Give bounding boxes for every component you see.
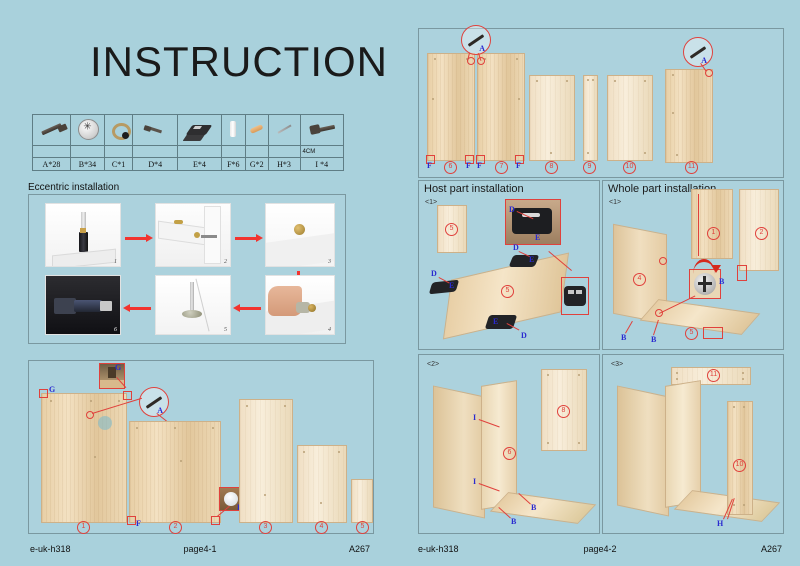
step-3-tag: <3>: [611, 361, 623, 368]
whole-b-left-leader: [625, 321, 633, 334]
right-top-boards-panel: 6 F F 7 F F A 8 9: [418, 28, 784, 178]
part-label-a: A*28: [33, 158, 71, 171]
whole-board-1: [691, 189, 733, 259]
part-cell-b: [70, 115, 104, 146]
eccentric-photo-num-6: 6: [114, 327, 117, 333]
board-7-f-left: F: [477, 161, 482, 170]
part-label-f: F*6: [221, 158, 245, 171]
step2-assembly-number: 6: [503, 447, 516, 460]
part-note-h: [268, 146, 300, 158]
page-right: 6 F F 7 F F A 8 9: [400, 0, 800, 566]
parts-table: 4CM A*28 B*34 C*1 D*4 E*4 F*6 G*2 H*3 I …: [32, 114, 344, 171]
part-cell-c: [104, 115, 132, 146]
footer-right-model: A267: [761, 544, 782, 554]
step3-top-rail-number: 11: [707, 369, 720, 382]
magnifier-a-top: A: [461, 25, 491, 55]
corner-bracket-bottom-e: E: [493, 317, 498, 326]
long-screw-icon: [301, 115, 343, 143]
whole-board-2-highlight: [737, 265, 747, 281]
board-1-callout-letter: G: [49, 385, 55, 394]
eccentric-arrow-1: [125, 237, 147, 240]
eccentric-photo-num-5: 5: [224, 327, 227, 333]
part-label-e: E*4: [178, 158, 221, 171]
step2-i-upper: I: [473, 413, 476, 422]
step3-left-wing: [617, 385, 669, 516]
board-4: [297, 445, 347, 523]
eccentric-photo-num-2: 2: [224, 259, 227, 265]
inset-g-letter: G: [115, 363, 121, 372]
step2-b-left: B: [511, 517, 516, 526]
part-cell-h: [268, 115, 300, 146]
board-number-9: 9: [583, 161, 596, 174]
corner-bracket-bottom-d: D: [521, 331, 527, 340]
board-9: [583, 75, 598, 161]
part-label-c: C*1: [104, 158, 132, 171]
board-1: [41, 393, 127, 523]
screw-closeup-b: B: [719, 277, 724, 286]
magnifier-a-top-right: A: [683, 37, 713, 67]
step3-post-number: 10: [733, 459, 746, 472]
board-number-2: 2: [169, 521, 182, 534]
screw-icon: [133, 115, 177, 143]
whole-base-highlight: [703, 327, 723, 339]
step2-base-shelf: [490, 492, 596, 524]
board-3: [239, 399, 293, 523]
whole-board-2-number: 2: [755, 227, 768, 240]
part-label-g: G*2: [246, 158, 269, 171]
part-note-d: [133, 146, 178, 158]
footer-right: e-uk-h318 page4-2 A267: [418, 544, 782, 558]
board-number-3: 3: [259, 521, 272, 534]
whole-part-step: <1>: [609, 199, 621, 206]
part-cell-d: [133, 115, 178, 146]
board-6-f-left: F: [427, 161, 432, 170]
eccentric-photo-6: 6: [45, 275, 121, 335]
board-number-1: 1: [77, 521, 90, 534]
whole-upright-number: 4: [633, 273, 646, 286]
step2-left-wing: [433, 385, 485, 518]
board-number-4: 4: [315, 521, 328, 534]
board-number-6: 6: [444, 161, 457, 174]
part-note-g: [246, 146, 269, 158]
board-1-callout-marker: [39, 389, 48, 398]
step2-i-lower: I: [473, 477, 476, 486]
plastic-bracket-icon: [178, 115, 220, 143]
board-number-8: 8: [545, 161, 558, 174]
part-label-b: B*34: [70, 158, 104, 171]
part-label-h: H*3: [268, 158, 300, 171]
left-boards-panel: 1 G G A 2 F F: [28, 360, 374, 534]
part-label-i: I *4: [300, 158, 343, 171]
magnifier-a-top-label: A: [479, 44, 485, 53]
whole-base-board: [640, 299, 761, 335]
eccentric-photo-num-4: 4: [328, 327, 331, 333]
corner-bracket-top-e: E: [529, 255, 534, 264]
eccentric-arrow-4: [239, 307, 261, 310]
board-2: [129, 421, 221, 523]
wood-dowel-icon: [246, 115, 268, 143]
part-note-f: [221, 146, 245, 158]
white-dowel-icon: [222, 115, 245, 143]
board-2-f-letter: F: [136, 519, 141, 528]
eccentric-arrow-5: [129, 307, 151, 310]
eccentric-installation-panel: 1 2 3 6: [28, 194, 346, 344]
step3-right-wing: [665, 380, 701, 508]
footer-right-page: page4-2: [583, 544, 616, 554]
eccentric-photo-4: 4: [265, 275, 335, 335]
footer-left: e-uk-h318 page4-1 A267: [30, 544, 370, 558]
parts-note-row: 4CM: [33, 146, 344, 158]
washer-dowel-icon: [105, 115, 132, 143]
pin-icon: [269, 115, 300, 143]
part-note-b: [70, 146, 104, 158]
page-left: INSTRUCTION 4CM A*28 B*34: [0, 0, 400, 566]
whole-b-left: B: [621, 333, 626, 342]
corner-bracket-right-highlight: [561, 277, 589, 315]
eccentric-photo-num-3: 3: [328, 259, 331, 265]
board-number-5: 5: [356, 521, 369, 534]
eccentric-photo-1: 1: [45, 203, 121, 267]
eccentric-photo-3: 3: [265, 203, 335, 267]
whole-b-mid: B: [651, 335, 656, 344]
corner-bracket-left-d: D: [431, 269, 437, 278]
part-note-i: 4CM: [300, 146, 343, 158]
parts-label-row: A*28 B*34 C*1 D*4 E*4 F*6 G*2 H*3 I *4: [33, 158, 344, 171]
board-2-f-marker: [127, 516, 136, 525]
board-1-g-marker: [123, 391, 132, 400]
board-number-7: 7: [495, 161, 508, 174]
page-title: INSTRUCTION: [90, 38, 388, 86]
bolt-icon: [33, 115, 70, 143]
step2-flat-board-number: 8: [557, 405, 570, 418]
eccentric-photo-5: 5: [155, 275, 231, 335]
parts-icon-row: [33, 115, 344, 146]
cam-lock-icon: [71, 115, 104, 143]
whole-upright-hole: [659, 257, 667, 265]
part-cell-i: [300, 115, 343, 146]
footer-left-model: A267: [349, 544, 370, 554]
part-cell-g: [246, 115, 269, 146]
part-note-a: [33, 146, 71, 158]
step-2-panel: <2> 6 8 I I B B: [418, 354, 600, 534]
host-part-title: Host part installation: [424, 183, 524, 195]
screw-leader-target: [655, 309, 663, 317]
whole-base-number: 5: [685, 327, 698, 340]
corner-bracket-left-e: E: [449, 281, 454, 290]
board-number-10: 10: [623, 161, 636, 174]
footer-left-page: page4-1: [183, 544, 216, 554]
board-6-f-right: F: [466, 161, 471, 170]
board-11: [665, 69, 713, 163]
eccentric-photo-num-1: 1: [114, 259, 117, 265]
board-5: [351, 479, 373, 523]
part-note-c: [104, 146, 132, 158]
eccentric-photo-2: 2: [155, 203, 231, 267]
part-cell-a: [33, 115, 71, 146]
board-6: [427, 53, 475, 161]
board-2-f-marker-2: [211, 516, 220, 525]
host-platform-number: 5: [501, 285, 514, 298]
whole-board-1-number: 1: [707, 227, 720, 240]
board-number-11: 11: [685, 161, 698, 174]
magnifier-a: A: [139, 387, 169, 417]
inset-bracket-e-letter: E: [535, 233, 540, 242]
part-note-e: [178, 146, 221, 158]
host-small-board-number: 5: [445, 223, 458, 236]
step3-h-letter: H: [717, 519, 723, 528]
board-7-f-right: F: [516, 161, 521, 170]
board-8: [529, 75, 575, 161]
step2-b-right: B: [531, 503, 536, 512]
eccentric-arrow-2: [235, 237, 257, 240]
part-label-d: D*4: [133, 158, 178, 171]
footer-right-code: e-uk-h318: [418, 544, 459, 554]
step-2-tag: <2>: [427, 361, 439, 368]
part-cell-e: [178, 115, 221, 146]
whole-part-installation-panel: Whole part installation <1> 4 5 1 2 B B: [602, 180, 784, 350]
inset-bracket-d-letter: D: [509, 205, 515, 214]
host-part-step: <1>: [425, 199, 437, 206]
host-part-installation-panel: Host part installation <1> 5 D E 5 D E D…: [418, 180, 600, 350]
board-7: [477, 53, 525, 161]
corner-bracket-top: [509, 255, 540, 267]
rotation-arrow-head: [711, 265, 721, 273]
footer-left-code: e-uk-h318: [30, 544, 71, 554]
eccentric-installation-caption: Eccentric installation: [28, 182, 119, 193]
step-3-panel: <3> 11 10 H: [602, 354, 784, 534]
board-10: [607, 75, 653, 161]
step3-vertical-post: [727, 401, 753, 515]
part-cell-f: [221, 115, 245, 146]
